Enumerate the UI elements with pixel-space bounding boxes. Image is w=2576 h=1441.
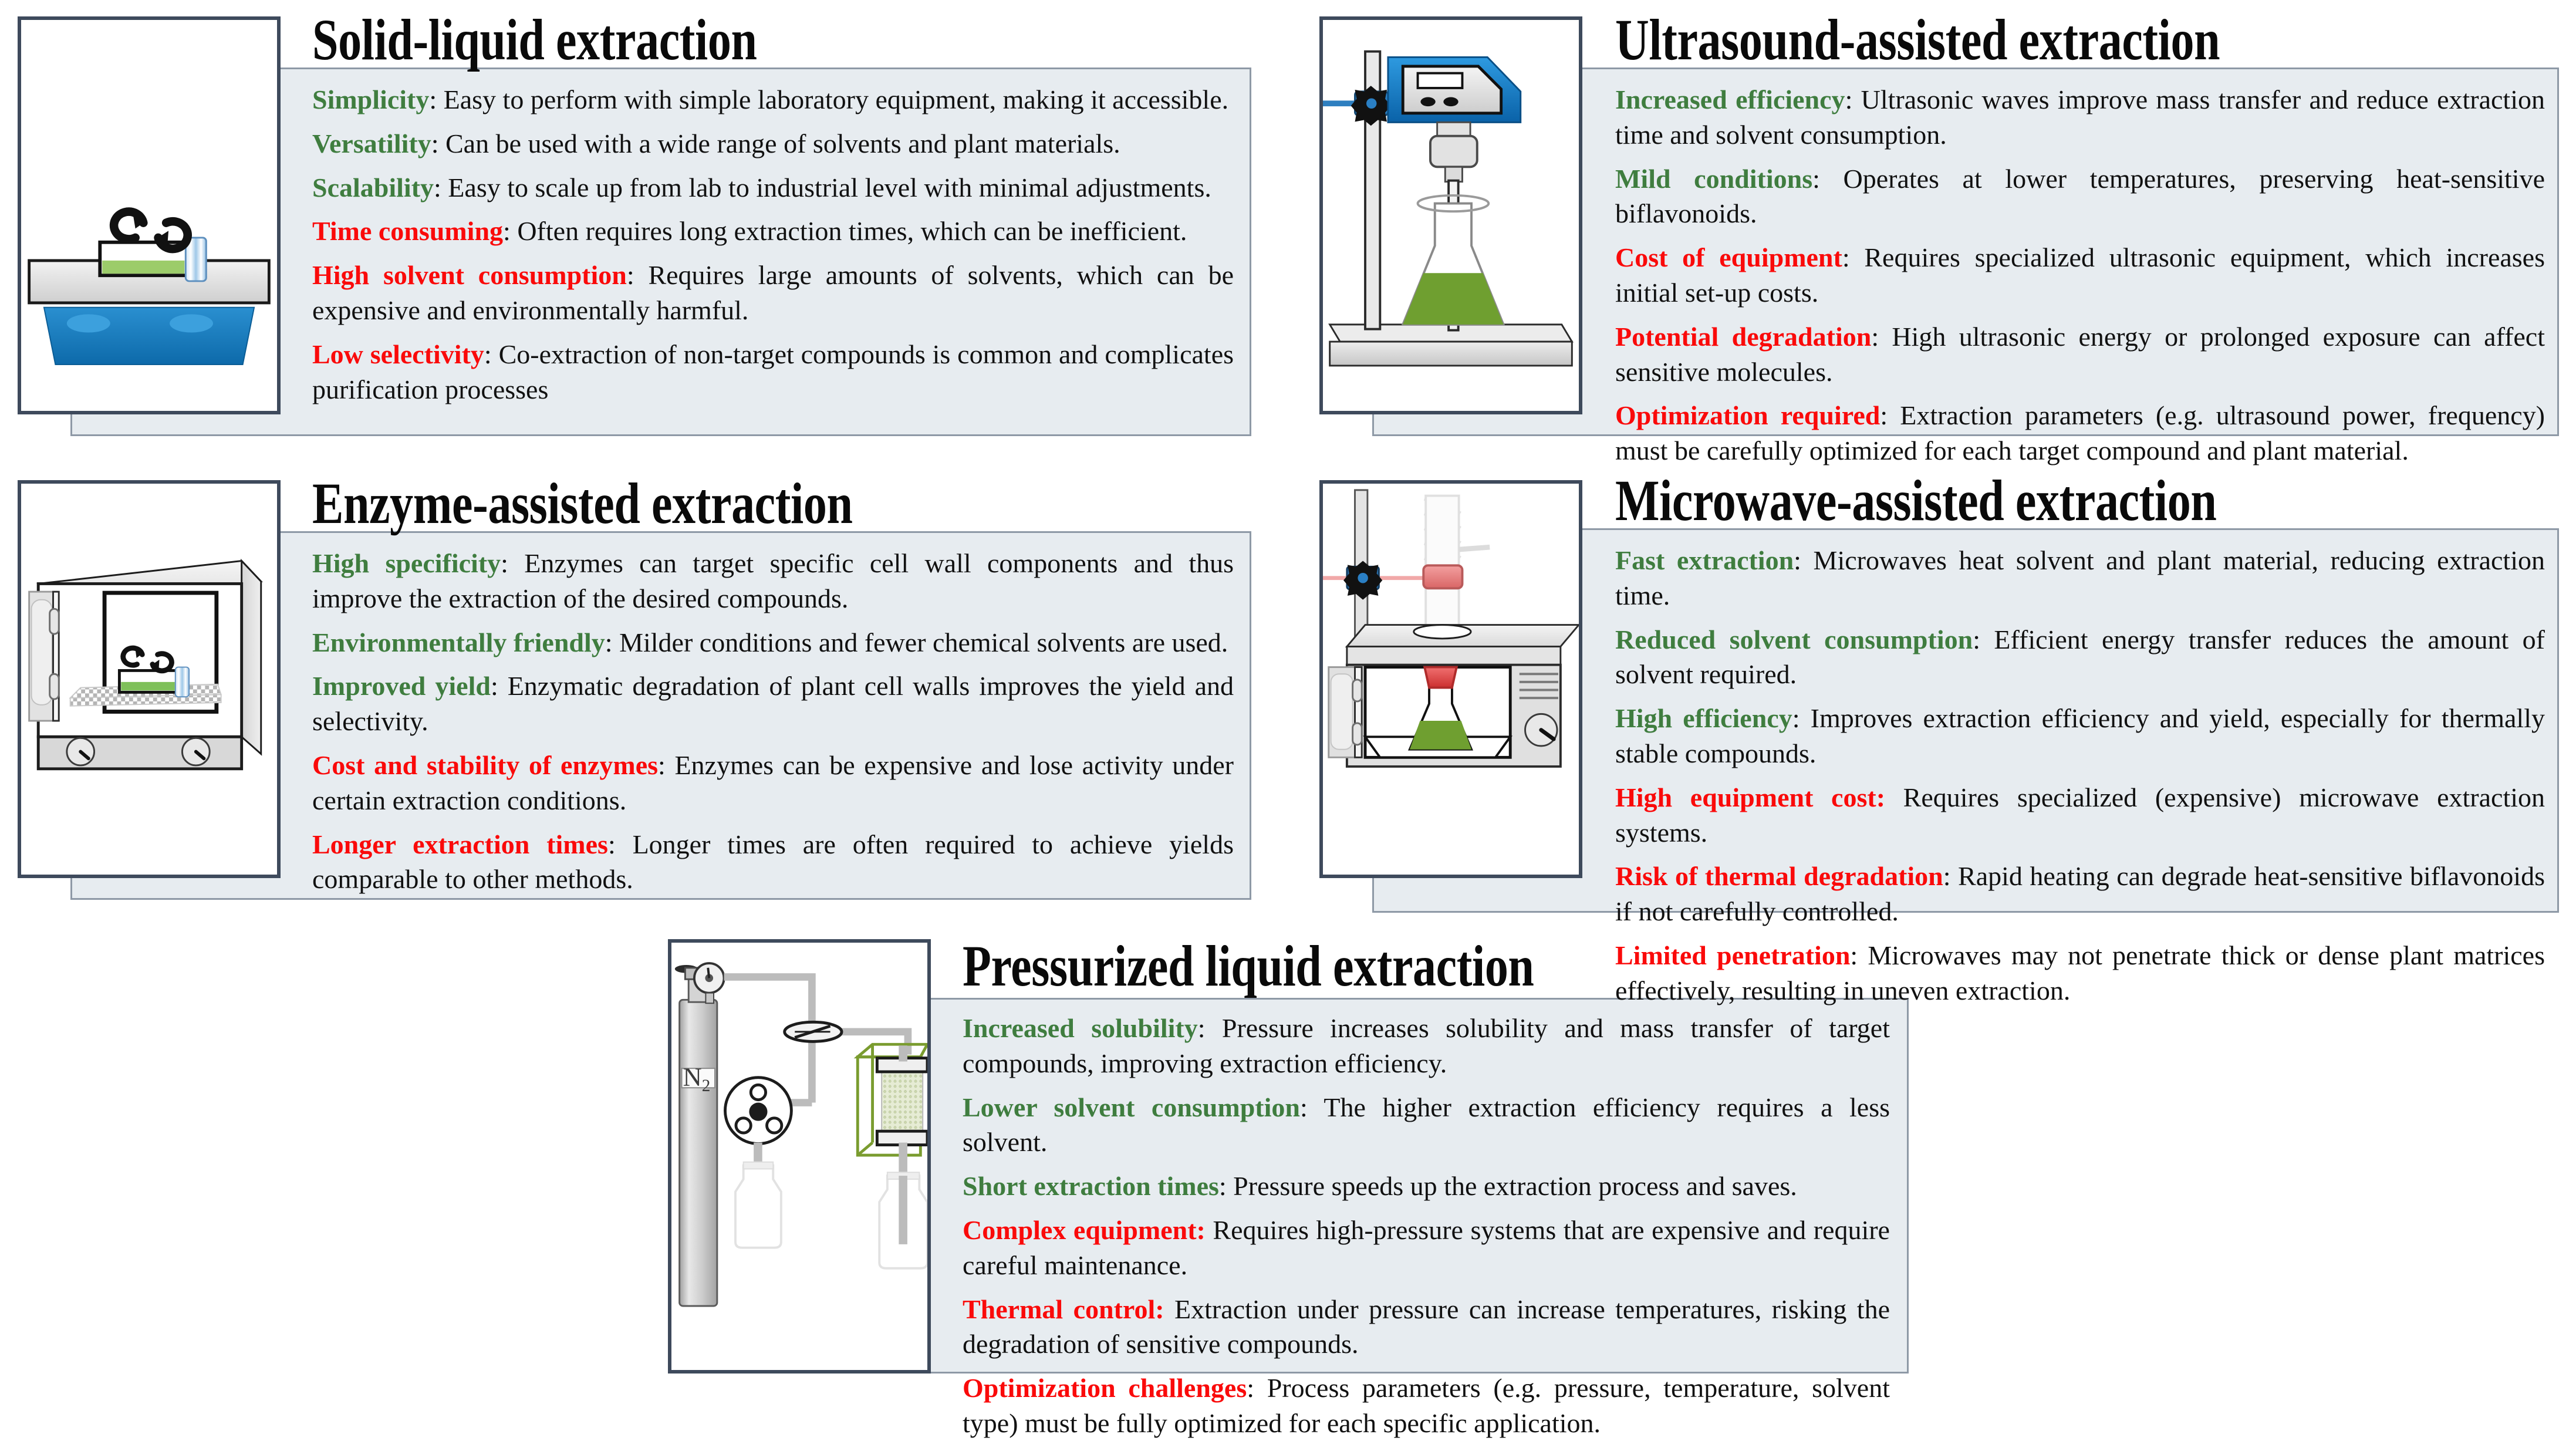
point-label: Thermal control: bbox=[963, 1294, 1164, 1324]
point-label: Complex equipment: bbox=[963, 1215, 1206, 1245]
point-item: Versatility: Can be used with a wide ran… bbox=[312, 126, 1234, 161]
pump-icon bbox=[725, 1078, 791, 1144]
point-label: High equipment cost: bbox=[1615, 782, 1885, 812]
panel-title: Enzyme-assisted extraction bbox=[312, 470, 853, 537]
ultrasonic-control-unit-icon bbox=[1388, 57, 1521, 122]
point-item: High solvent consumption: Requires large… bbox=[312, 258, 1234, 328]
button-icon bbox=[1420, 97, 1435, 107]
point-label: Low selectivity bbox=[312, 339, 484, 369]
panel-points: Fast extraction: Microwaves heat solvent… bbox=[1615, 543, 2545, 1008]
panel-points: Simplicity: Easy to perform with simple … bbox=[312, 82, 1234, 407]
point-label: High specificity bbox=[312, 548, 501, 578]
test-tube-icon bbox=[119, 667, 189, 697]
condenser-sidearm-icon bbox=[1459, 547, 1490, 549]
point-label: Reduced solvent consumption bbox=[1615, 625, 1973, 654]
hinge-icon bbox=[50, 609, 59, 634]
point-label: Time consuming bbox=[312, 216, 503, 246]
panel-points: Increased efficiency: Ultrasonic waves i… bbox=[1615, 82, 2545, 468]
point-item: High efficiency: Improves extraction eff… bbox=[1615, 701, 2545, 771]
knob-icon bbox=[1525, 714, 1558, 746]
hinge-icon bbox=[1353, 680, 1362, 701]
point-text: : Milder conditions and fewer chemical s… bbox=[605, 627, 1228, 657]
point-item: Risk of thermal degradation: Rapid heati… bbox=[1615, 859, 2545, 929]
hinge-icon bbox=[50, 674, 59, 699]
knob-icon bbox=[182, 738, 210, 765]
point-label: Mild conditions bbox=[1615, 164, 1812, 194]
point-item: Simplicity: Easy to perform with simple … bbox=[312, 82, 1234, 117]
point-label: Cost of equipment bbox=[1615, 242, 1842, 272]
point-item: Limited penetration: Microwaves may not … bbox=[1615, 938, 2545, 1008]
point-label: Environmentally friendly bbox=[312, 627, 605, 657]
point-label: Versatility bbox=[312, 129, 431, 158]
collection-bottle-icon bbox=[735, 1162, 781, 1248]
point-item: Mild conditions: Operates at lower tempe… bbox=[1615, 161, 2545, 232]
point-item: Scalability: Easy to scale up from lab t… bbox=[312, 170, 1234, 205]
illustration-orbital-shaker bbox=[18, 16, 281, 414]
point-text: : Can be used with a wide range of solve… bbox=[431, 129, 1120, 158]
nitrogen-gas-cylinder-icon: N2 bbox=[675, 963, 724, 1306]
illustration-microwave-reflux bbox=[1319, 480, 1582, 878]
clamp-icon bbox=[1343, 561, 1382, 600]
point-item: Low selectivity: Co-extraction of non-ta… bbox=[312, 337, 1234, 407]
point-item: Environmentally friendly: Milder conditi… bbox=[312, 625, 1234, 660]
flask-neck-clamp-icon bbox=[1424, 667, 1457, 688]
point-label: Increased efficiency bbox=[1615, 85, 1845, 114]
point-item: Fast extraction: Microwaves heat solvent… bbox=[1615, 543, 2545, 613]
point-item: High equipment cost: Requires specialize… bbox=[1615, 780, 2545, 851]
point-text: : Easy to perform with simple laboratory… bbox=[429, 85, 1228, 114]
point-label: Simplicity bbox=[312, 85, 429, 114]
knob-icon bbox=[67, 738, 94, 765]
point-label: Scalability bbox=[312, 173, 434, 203]
point-item: Short extraction times: Pressure speeds … bbox=[963, 1169, 1890, 1204]
panel-title: Solid-liquid extraction bbox=[312, 6, 757, 73]
point-item: Lower solvent consumption: The higher ex… bbox=[963, 1090, 1890, 1160]
point-label: Improved yield bbox=[312, 671, 491, 701]
point-text: : Pressure speeds up the extraction proc… bbox=[1219, 1171, 1797, 1201]
point-item: High specificity: Enzymes can target spe… bbox=[312, 546, 1234, 616]
point-label: Limited penetration bbox=[1615, 940, 1850, 970]
valve-icon bbox=[785, 1022, 842, 1041]
panel-points: Increased solubility: Pressure increases… bbox=[963, 1011, 1890, 1441]
point-item: Improved yield: Enzymatic degradation of… bbox=[312, 669, 1234, 739]
point-item: Longer extraction times: Longer times ar… bbox=[312, 827, 1234, 897]
test-tube-icon bbox=[100, 238, 206, 281]
point-label: Potential degradation bbox=[1615, 322, 1871, 352]
point-item: Cost and stability of enzymes: Enzymes c… bbox=[312, 748, 1234, 818]
condenser-tube-icon bbox=[1426, 496, 1459, 633]
collection-bottle-icon bbox=[879, 1172, 927, 1268]
panel-title: Pressurized liquid extraction bbox=[963, 932, 1534, 1000]
point-item: Reduced solvent consumption: Efficient e… bbox=[1615, 622, 2545, 693]
point-label: Longer extraction times bbox=[312, 829, 608, 859]
point-label: Increased solubility bbox=[963, 1013, 1198, 1043]
microwave-door-icon bbox=[1329, 667, 1362, 758]
point-item: Optimization challenges: Process paramet… bbox=[963, 1371, 1890, 1441]
point-label: High solvent consumption bbox=[312, 260, 627, 290]
red-clamp-icon bbox=[1423, 565, 1462, 588]
shaker-base-icon bbox=[44, 308, 254, 365]
panel-title: Ultrasound-assisted extraction bbox=[1615, 6, 2220, 73]
point-item: Time consuming: Often requires long extr… bbox=[312, 214, 1234, 249]
point-label: Cost and stability of enzymes bbox=[312, 750, 658, 780]
point-label: Optimization challenges bbox=[963, 1373, 1247, 1403]
hinge-icon bbox=[1353, 723, 1362, 745]
point-text: : Easy to scale up from lab to industria… bbox=[434, 173, 1211, 203]
illustration-incubator-oven bbox=[18, 480, 281, 878]
point-item: Optimization required: Extraction parame… bbox=[1615, 398, 2545, 468]
oven-side-icon bbox=[242, 561, 261, 754]
point-item: Cost of equipment: Requires specialized … bbox=[1615, 240, 2545, 311]
microwave-top-edge-icon bbox=[1347, 647, 1561, 665]
illustration-pressurized-liquid-system: N2 bbox=[668, 939, 931, 1373]
point-label: High efficiency bbox=[1615, 703, 1792, 733]
extraction-cell-icon bbox=[857, 1044, 927, 1178]
point-item: Thermal control: Extraction under pressu… bbox=[963, 1292, 1890, 1362]
point-label: Lower solvent consumption bbox=[963, 1092, 1300, 1122]
point-item: Complex equipment: Requires high-pressur… bbox=[963, 1213, 1890, 1283]
point-item: Increased efficiency: Ultrasonic waves i… bbox=[1615, 82, 2545, 153]
clamp-icon bbox=[1323, 86, 1391, 126]
point-label: Fast extraction bbox=[1615, 545, 1794, 575]
point-item: Potential degradation: High ultrasonic e… bbox=[1615, 319, 2545, 390]
point-label: Risk of thermal degradation bbox=[1615, 861, 1943, 891]
erlenmeyer-flask-icon bbox=[1403, 195, 1503, 325]
panel-title: Microwave-assisted extraction bbox=[1615, 467, 2216, 534]
port-hole-icon bbox=[1414, 625, 1471, 639]
illustration-ultrasonic-probe bbox=[1319, 16, 1582, 414]
panel-points: High specificity: Enzymes can target spe… bbox=[312, 546, 1234, 897]
point-label: Short extraction times bbox=[963, 1171, 1219, 1201]
button-icon bbox=[1443, 97, 1458, 107]
oven-door-icon bbox=[29, 592, 59, 721]
point-item: Increased solubility: Pressure increases… bbox=[963, 1011, 1890, 1081]
point-label: Optimization required bbox=[1615, 400, 1880, 430]
point-text: : Often requires long extraction times, … bbox=[503, 216, 1187, 246]
